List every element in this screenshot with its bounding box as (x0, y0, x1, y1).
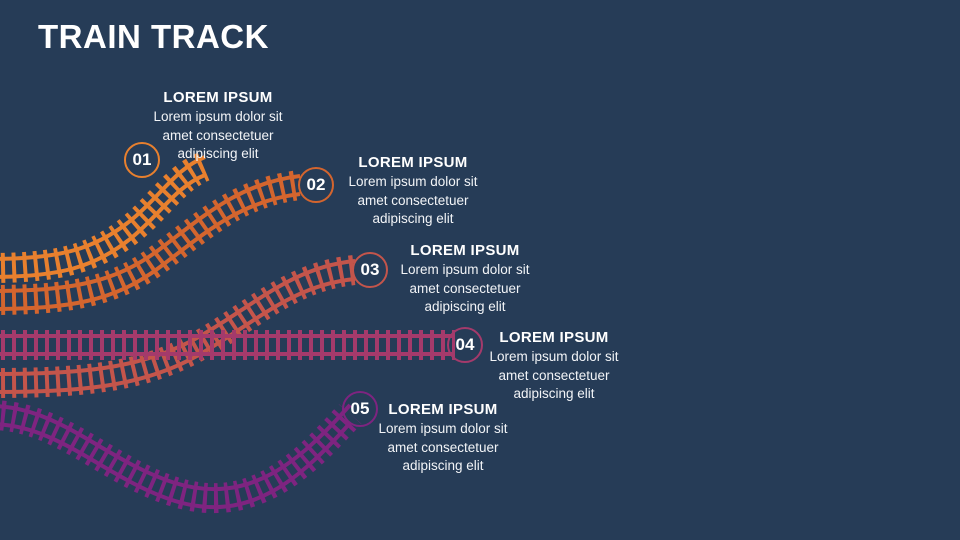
step-title-04: LOREM IPSUM (429, 328, 679, 348)
step-title-03: LOREM IPSUM (340, 241, 590, 261)
page-title: TRAIN TRACK (38, 18, 269, 56)
step-body-02-line1: Lorem ipsum dolor sit (288, 173, 538, 192)
step-label-03: LOREM IPSUM Lorem ipsum dolor sit amet c… (340, 241, 590, 317)
step-label-04: LOREM IPSUM Lorem ipsum dolor sit amet c… (429, 328, 679, 404)
step-body-03-line1: Lorem ipsum dolor sit (340, 261, 590, 280)
track-group-02 (0, 176, 300, 309)
step-body-03-line3: adipiscing elit (340, 298, 590, 317)
step-body-02-line3: adipiscing elit (288, 210, 538, 229)
step-body-05-line2: amet consectetuer (318, 439, 568, 458)
track-group-05 (0, 405, 350, 507)
step-label-05: LOREM IPSUM Lorem ipsum dolor sit amet c… (318, 400, 568, 476)
slide-canvas: TRAIN TRACK 01 LOREM IPSUM Lorem ipsum d… (0, 0, 960, 540)
step-label-02: LOREM IPSUM Lorem ipsum dolor sit amet c… (288, 153, 538, 229)
track-ties-01 (0, 166, 205, 268)
step-body-02-line2: amet consectetuer (288, 192, 538, 211)
step-title-01: LOREM IPSUM (93, 88, 343, 108)
step-body-01-line1: Lorem ipsum dolor sit (93, 108, 343, 127)
step-body-04-line1: Lorem ipsum dolor sit (429, 348, 679, 367)
step-body-01-line2: amet consectetuer (93, 127, 343, 146)
step-body-04-line2: amet consectetuer (429, 367, 679, 386)
step-body-05-line1: Lorem ipsum dolor sit (318, 420, 568, 439)
track-group-03 (0, 261, 355, 392)
step-body-03-line2: amet consectetuer (340, 280, 590, 299)
step-title-02: LOREM IPSUM (288, 153, 538, 173)
step-body-05-line3: adipiscing elit (318, 457, 568, 476)
step-title-05: LOREM IPSUM (318, 400, 568, 420)
